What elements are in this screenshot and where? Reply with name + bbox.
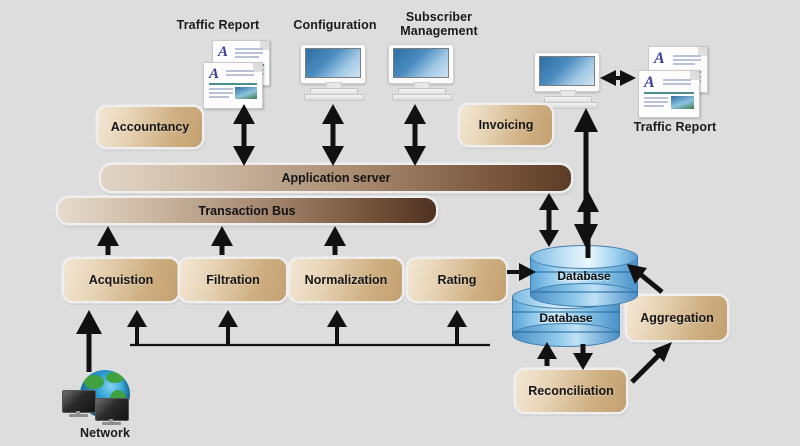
doc-image-thumb — [235, 87, 257, 99]
arrow-feedback-rating — [447, 310, 467, 345]
label-network: Network — [60, 426, 150, 440]
box-rating-label: Rating — [438, 273, 477, 287]
label-subscriber-management: Subscriber Management — [385, 10, 493, 38]
monitor-screen — [539, 56, 595, 86]
doc-letter-a: A — [654, 50, 665, 68]
doc-corner-fold — [690, 71, 699, 80]
monitor-screen — [393, 48, 449, 78]
arrow-appserver-database-bidirectional — [539, 193, 559, 247]
bar-application-server-label: Application server — [281, 171, 390, 185]
arrow-network-acquistion — [76, 310, 102, 372]
arrow-filtration-bus — [211, 226, 233, 255]
arrow-acquistion-bus — [97, 226, 119, 255]
document-stack-icon: A A — [200, 40, 280, 108]
network-computer-1 — [62, 390, 96, 420]
box-normalization-label: Normalization — [305, 273, 388, 287]
arrow-subscriber-bidirectional — [404, 104, 426, 166]
arrow-feedback-filtration — [218, 310, 238, 345]
box-aggregation-label: Aggregation — [640, 311, 714, 325]
doc-letter-a: A — [209, 66, 219, 83]
label-traffic-report-right: Traffic Report — [620, 120, 730, 134]
arrow-traffic-report-bidirectional — [233, 104, 255, 166]
arrow-monitor-database-bidirectional — [574, 108, 598, 248]
monitor-icon-subscriber — [388, 44, 454, 100]
doc-image-thumb — [671, 96, 694, 109]
label-configuration: Configuration — [285, 18, 385, 32]
box-invoicing[interactable]: Invoicing — [460, 105, 552, 145]
doc-page-front: A — [203, 62, 263, 109]
arrow-normalization-bus — [324, 226, 346, 255]
arrow-configuration-bidirectional — [322, 104, 344, 166]
database-upper-label: Database — [530, 269, 638, 283]
box-acquistion-label: Acquistion — [89, 273, 154, 287]
box-reconciliation[interactable]: Reconciliation — [516, 370, 626, 412]
database-lower-label: Database — [512, 311, 620, 325]
doc-letter-a: A — [218, 44, 228, 61]
bar-application-server[interactable]: Application server — [101, 165, 571, 191]
arrow-database-reconciliation-down — [573, 344, 593, 370]
doc-corner-fold — [253, 63, 262, 72]
box-filtration[interactable]: Filtration — [180, 259, 286, 301]
arrow-feedback-acquistion — [127, 310, 147, 345]
box-rating[interactable]: Rating — [408, 259, 506, 301]
bar-transaction-bus-label: Transaction Bus — [198, 204, 295, 218]
monitor-icon-right — [534, 52, 600, 108]
box-invoicing-label: Invoicing — [479, 118, 534, 132]
monitor-screen — [305, 48, 361, 78]
doc-letter-a: A — [644, 74, 655, 92]
box-acquistion[interactable]: Acquistion — [64, 259, 178, 301]
box-accountancy[interactable]: Accountancy — [98, 107, 202, 147]
box-accountancy-label: Accountancy — [111, 120, 190, 134]
architecture-diagram: Traffic Report Configuration Subscriber … — [0, 0, 800, 446]
box-filtration-label: Filtration — [206, 273, 259, 287]
box-normalization[interactable]: Normalization — [290, 259, 402, 301]
box-reconciliation-label: Reconciliation — [528, 384, 613, 398]
database-upper[interactable]: Database — [530, 245, 638, 307]
arrow-monitor-docs-bidirectional — [600, 70, 636, 86]
monitor-icon-configuration — [300, 44, 366, 100]
label-traffic-report: Traffic Report — [168, 18, 268, 32]
network-computer-2 — [95, 398, 129, 428]
network-globe-icon — [62, 370, 142, 422]
doc-page-front: A — [638, 70, 700, 118]
bar-transaction-bus[interactable]: Transaction Bus — [58, 198, 436, 223]
arrow-feedback-normalization — [327, 310, 347, 345]
box-aggregation[interactable]: Aggregation — [627, 296, 727, 340]
document-stack-icon-right: A A — [634, 46, 720, 118]
arrow-reconciliation-aggregation — [632, 342, 672, 382]
